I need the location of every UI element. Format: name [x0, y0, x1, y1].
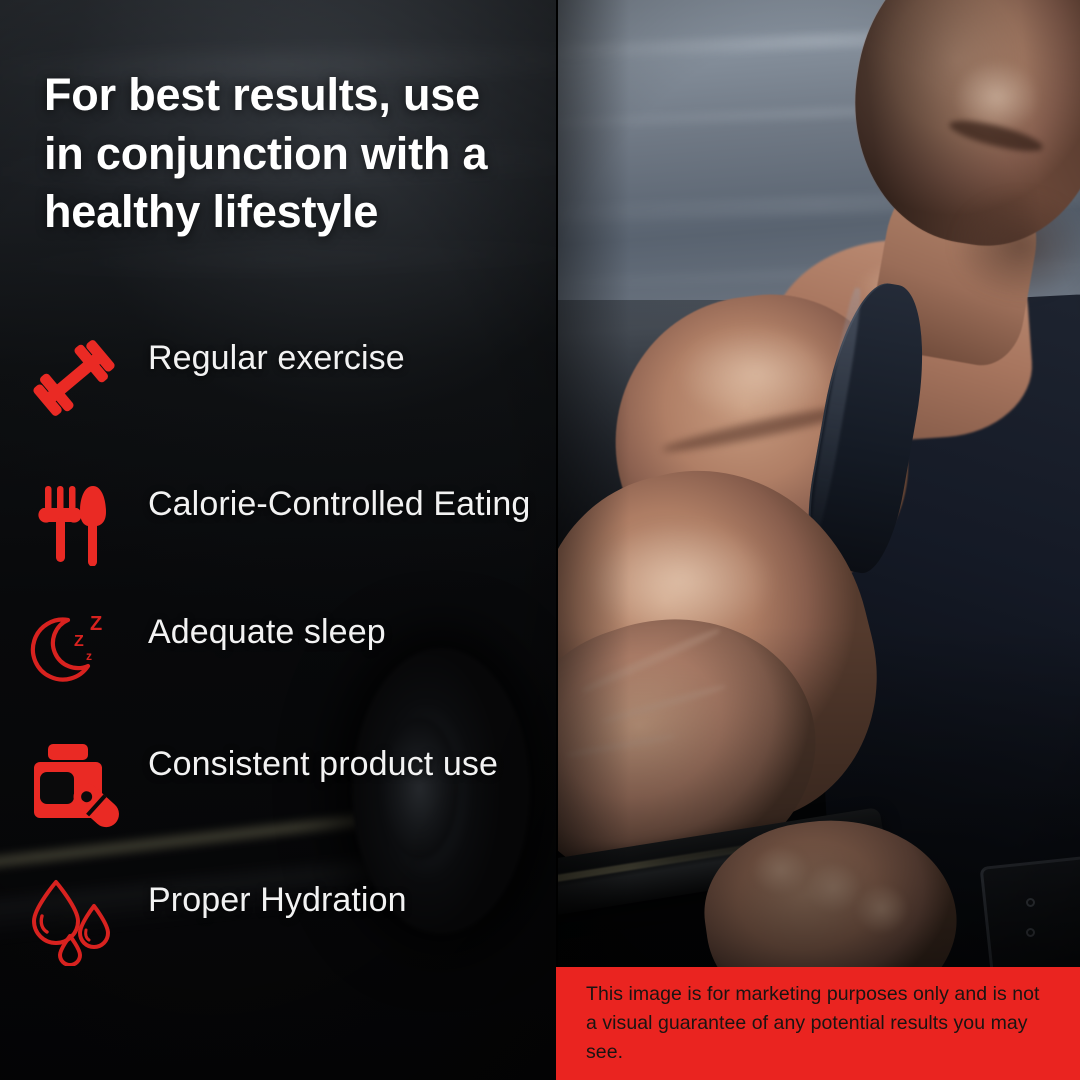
list-item-label: Consistent product use [148, 738, 498, 790]
photo-canvas [556, 0, 1080, 1080]
marketing-graphic: For best results, use in conjunction wit… [0, 0, 1080, 1080]
disclaimer-text: This image is for marketing purposes onl… [556, 980, 1080, 1068]
belt-hole [1026, 898, 1035, 907]
deltoid-highlight [676, 326, 836, 422]
lifestyle-checklist: Regular exercise [0, 332, 556, 966]
knuckle [752, 846, 810, 896]
disclaimer-banner: This image is for marketing purposes onl… [556, 967, 1080, 1080]
list-item-label: Adequate sleep [148, 606, 386, 658]
list-item: Calorie-Controlled Eating [0, 478, 556, 566]
belt-hole [1026, 928, 1035, 937]
list-item: Consistent product use [0, 738, 556, 830]
page-title: For best results, use in conjunction wit… [44, 66, 514, 242]
supplement-bottle-pill-icon [0, 738, 148, 830]
jaw-shadow [952, 190, 1080, 300]
svg-text:Z: Z [74, 633, 84, 650]
dumbbell-icon [0, 332, 148, 422]
list-item-label: Calorie-Controlled Eating [148, 478, 530, 530]
list-item-label: Regular exercise [148, 332, 405, 384]
fork-knife-icon [0, 478, 148, 566]
list-item: Proper Hydration [0, 874, 556, 966]
list-item: Regular exercise [0, 332, 556, 422]
fitness-model-photo: This image is for marketing purposes onl… [556, 0, 1080, 1080]
svg-text:Z: Z [90, 613, 102, 635]
water-droplets-icon [0, 874, 148, 966]
list-item-label: Proper Hydration [148, 874, 407, 926]
knuckle [854, 884, 908, 934]
svg-text:z: z [86, 649, 92, 663]
moon-zzz-icon: Z Z z [0, 606, 148, 698]
left-content-panel: For best results, use in conjunction wit… [0, 0, 556, 1080]
list-item: Z Z z Adequate sleep [0, 606, 556, 698]
panel-divider [556, 0, 558, 1080]
